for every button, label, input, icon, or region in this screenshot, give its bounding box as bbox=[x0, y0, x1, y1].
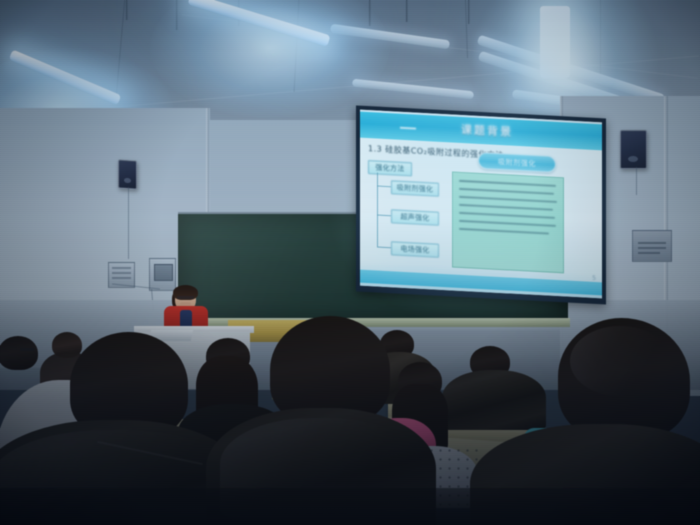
slide-text-line bbox=[459, 212, 555, 219]
light-hanger-rod bbox=[369, 0, 371, 26]
light-hanger-rod bbox=[176, 0, 178, 30]
panel-face bbox=[154, 264, 173, 281]
slide-text-line bbox=[459, 196, 557, 203]
lecture-hall-photo: 课题背景 1.3 硅胶基CO₂吸附过程的强化方法 强化方法 吸附剂强化 超声强化… bbox=[0, 0, 700, 525]
ceiling-seam bbox=[294, 0, 300, 92]
speaker-grille bbox=[628, 156, 638, 162]
projection-screen: 课题背景 1.3 硅胶基CO₂吸附过程的强化方法 强化方法 吸附剂强化 超声强化… bbox=[356, 105, 606, 304]
flowchart-link bbox=[377, 247, 391, 249]
flowchart-branch-3: 电场强化 bbox=[391, 241, 439, 258]
screen-surface: 课题背景 1.3 硅胶基CO₂吸附过程的强化方法 强化方法 吸附剂强化 超声强化… bbox=[360, 110, 602, 299]
ceiling-seam bbox=[116, 0, 125, 96]
slide-text-line bbox=[459, 220, 556, 227]
student-head-foreground-right bbox=[558, 318, 690, 440]
speaker-wire bbox=[128, 187, 129, 259]
speaker-grille bbox=[124, 178, 131, 183]
wall-speaker-right bbox=[620, 130, 647, 169]
speaker-wire bbox=[636, 167, 637, 195]
air-vent-right bbox=[632, 230, 672, 262]
student-leather-jacket-2 bbox=[442, 370, 546, 430]
student-glasses bbox=[20, 348, 34, 351]
slide-text-line bbox=[459, 188, 554, 195]
flowchart-root: 强化方法 bbox=[368, 160, 412, 176]
light-hanger-rod bbox=[468, 0, 470, 24]
slide-textbox bbox=[452, 171, 564, 273]
flowchart-branch-1: 吸附剂强化 bbox=[391, 180, 439, 197]
flowchart-trunk bbox=[377, 173, 378, 247]
light-hanger-rod bbox=[126, 0, 128, 20]
presentation-slide: 课题背景 1.3 硅胶基CO₂吸附过程的强化方法 强化方法 吸附剂强化 超声强化… bbox=[360, 110, 602, 299]
wall-speaker-left bbox=[118, 159, 137, 189]
slide-footer-band bbox=[360, 270, 602, 296]
ceiling-seam bbox=[600, 0, 601, 80]
slide-callout: 吸附剂强化 bbox=[478, 152, 556, 173]
presenter-glasses bbox=[177, 296, 194, 299]
flowchart-branch-2: 超声强化 bbox=[391, 209, 439, 226]
fluorescent-tube-above-screen bbox=[540, 6, 570, 78]
flowchart-link bbox=[377, 215, 391, 217]
light-hanger-rod bbox=[406, 0, 408, 22]
slide-text-line bbox=[459, 204, 553, 211]
control-panel-left bbox=[149, 258, 176, 291]
foreground-shadow bbox=[0, 488, 700, 525]
flowchart-link bbox=[377, 186, 391, 188]
student-head-white-shirt bbox=[0, 336, 38, 370]
slide-text-line bbox=[459, 180, 556, 187]
slide-text-line bbox=[459, 228, 549, 234]
